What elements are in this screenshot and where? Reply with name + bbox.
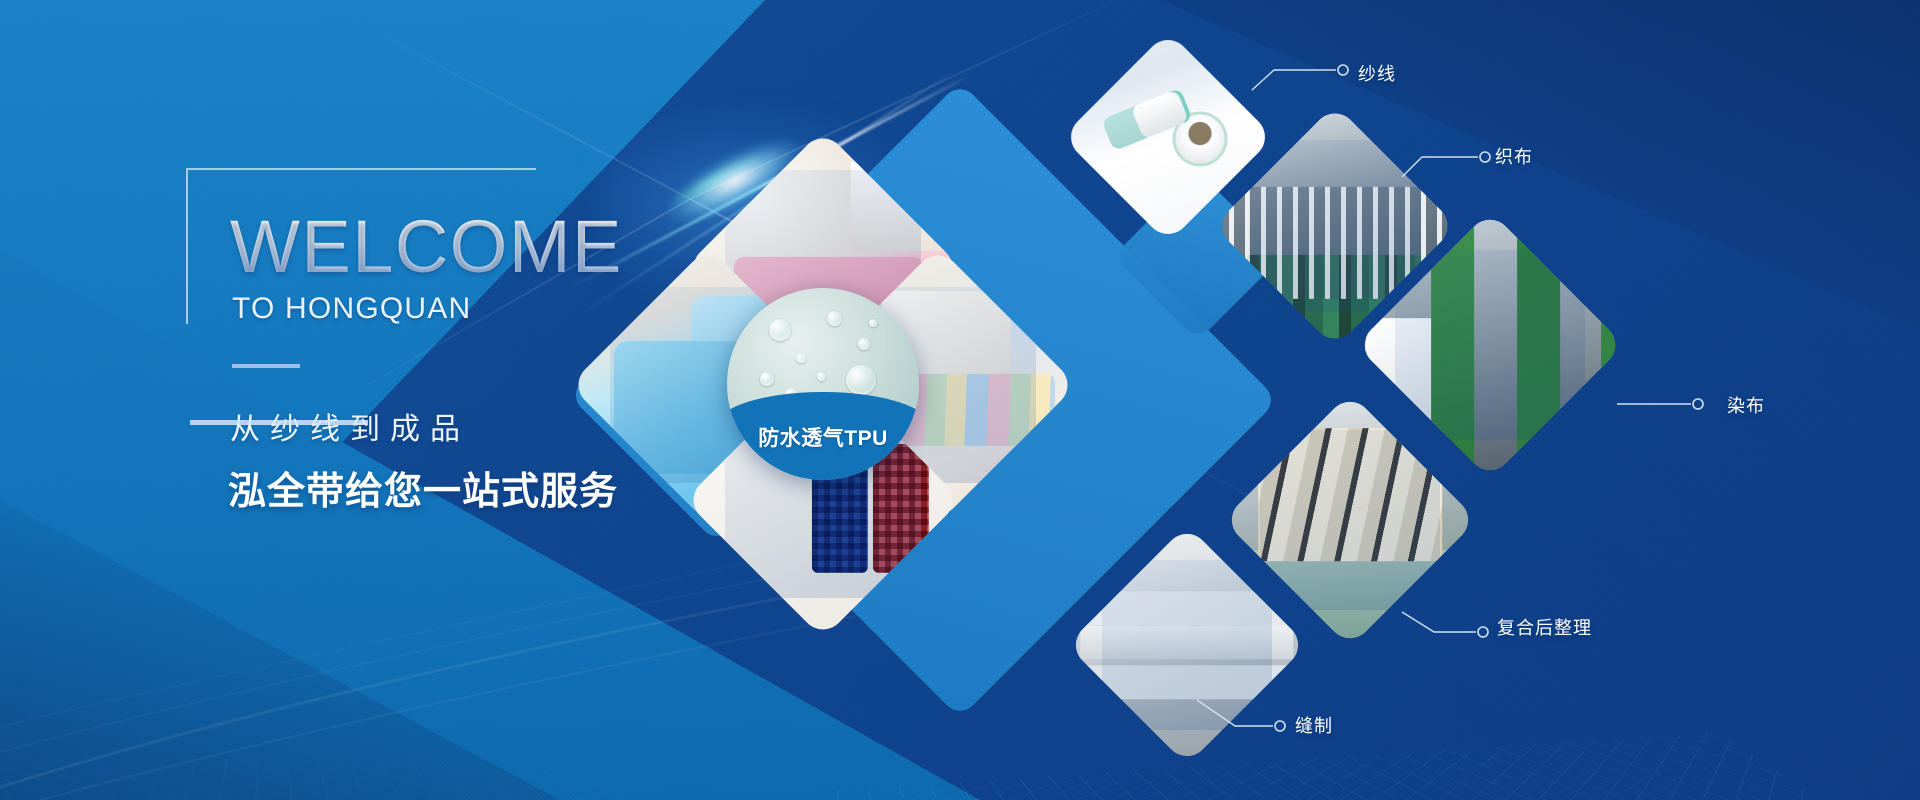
badge-label: 防水透气TPU xyxy=(727,422,919,452)
page-title: WELCOME xyxy=(230,210,623,284)
tpu-feature-badge[interactable]: 防水透气TPU xyxy=(727,288,919,480)
hero-banner: WELCOME TO HONGQUAN 从纱线到成品 泓全带给您一站式服务 xyxy=(0,0,1920,800)
process-label-yarn: 纱线 xyxy=(1358,60,1396,86)
process-label-weaving: 织布 xyxy=(1495,143,1533,169)
page-subtitle: TO HONGQUAN xyxy=(232,292,471,326)
process-label-finishing: 复合后整理 xyxy=(1497,614,1592,640)
tagline-primary: 泓全带给您一站式服务 xyxy=(228,460,618,515)
process-label-dyeing: 染布 xyxy=(1727,392,1765,418)
accent-rule-large xyxy=(190,420,368,425)
process-label-sewing: 缝制 xyxy=(1295,712,1333,738)
accent-rule-small xyxy=(232,364,300,368)
tagline-secondary: 从纱线到成品 xyxy=(230,404,470,448)
